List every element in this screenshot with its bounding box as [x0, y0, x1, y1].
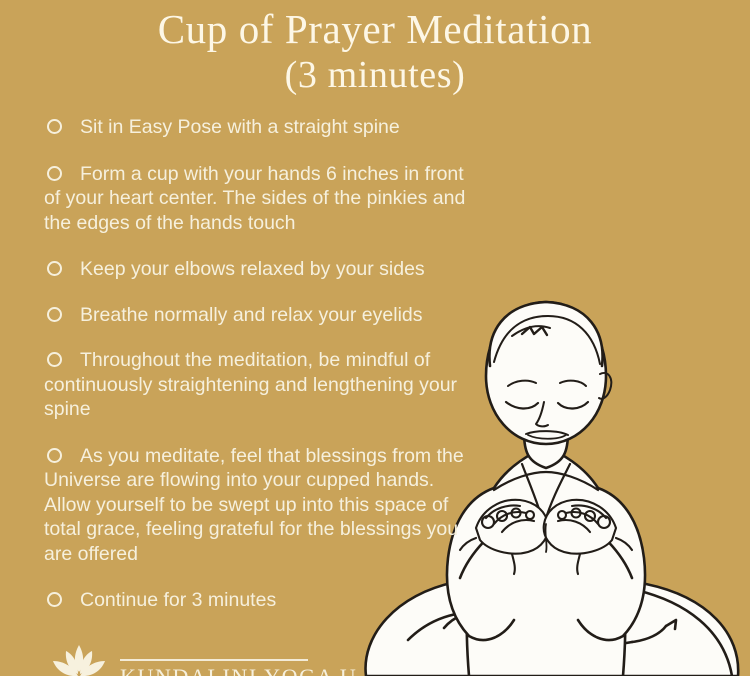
instruction-list: Sit in Easy Pose with a straight spine F…	[44, 115, 474, 635]
list-item: Continue for 3 minutes	[44, 588, 474, 613]
list-item: Breathe normally and relax your eyelids	[44, 303, 474, 328]
page-title: Cup of Prayer Meditation	[0, 6, 750, 52]
brand-text-wrap: KUNDALINI YOGA U	[120, 655, 357, 676]
hollow-circle-icon	[47, 166, 62, 181]
hollow-circle-icon	[47, 261, 62, 276]
list-item-text: As you meditate, feel that blessings fro…	[44, 444, 474, 567]
brand-divider	[120, 659, 308, 661]
list-item-text: Keep your elbows relaxed by your sides	[44, 257, 474, 282]
page-subtitle: (3 minutes)	[0, 53, 750, 97]
hollow-circle-icon	[47, 119, 62, 134]
hollow-circle-icon	[47, 352, 62, 367]
list-item-text: Continue for 3 minutes	[44, 588, 474, 613]
list-item: Form a cup with your hands 6 inches in f…	[44, 162, 474, 236]
brand-logo: KUNDALINI YOGA U	[48, 642, 357, 676]
page-title-block: Cup of Prayer Meditation (3 minutes)	[0, 6, 750, 97]
poster-canvas: Cup of Prayer Meditation (3 minutes) Sit…	[0, 0, 750, 676]
list-item: As you meditate, feel that blessings fro…	[44, 444, 474, 567]
list-item: Keep your elbows relaxed by your sides	[44, 257, 474, 282]
brand-name: KUNDALINI YOGA U	[120, 666, 357, 676]
hollow-circle-icon	[47, 448, 62, 463]
list-item-text: Throughout the meditation, be mindful of…	[44, 348, 474, 422]
list-item: Throughout the meditation, be mindful of…	[44, 348, 474, 422]
list-item-text: Sit in Easy Pose with a straight spine	[44, 115, 474, 140]
hollow-circle-icon	[47, 592, 62, 607]
list-item-text: Form a cup with your hands 6 inches in f…	[44, 162, 474, 236]
hollow-circle-icon	[47, 307, 62, 322]
lotus-flower-icon	[48, 642, 110, 676]
list-item: Sit in Easy Pose with a straight spine	[44, 115, 474, 140]
list-item-text: Breathe normally and relax your eyelids	[44, 303, 474, 328]
